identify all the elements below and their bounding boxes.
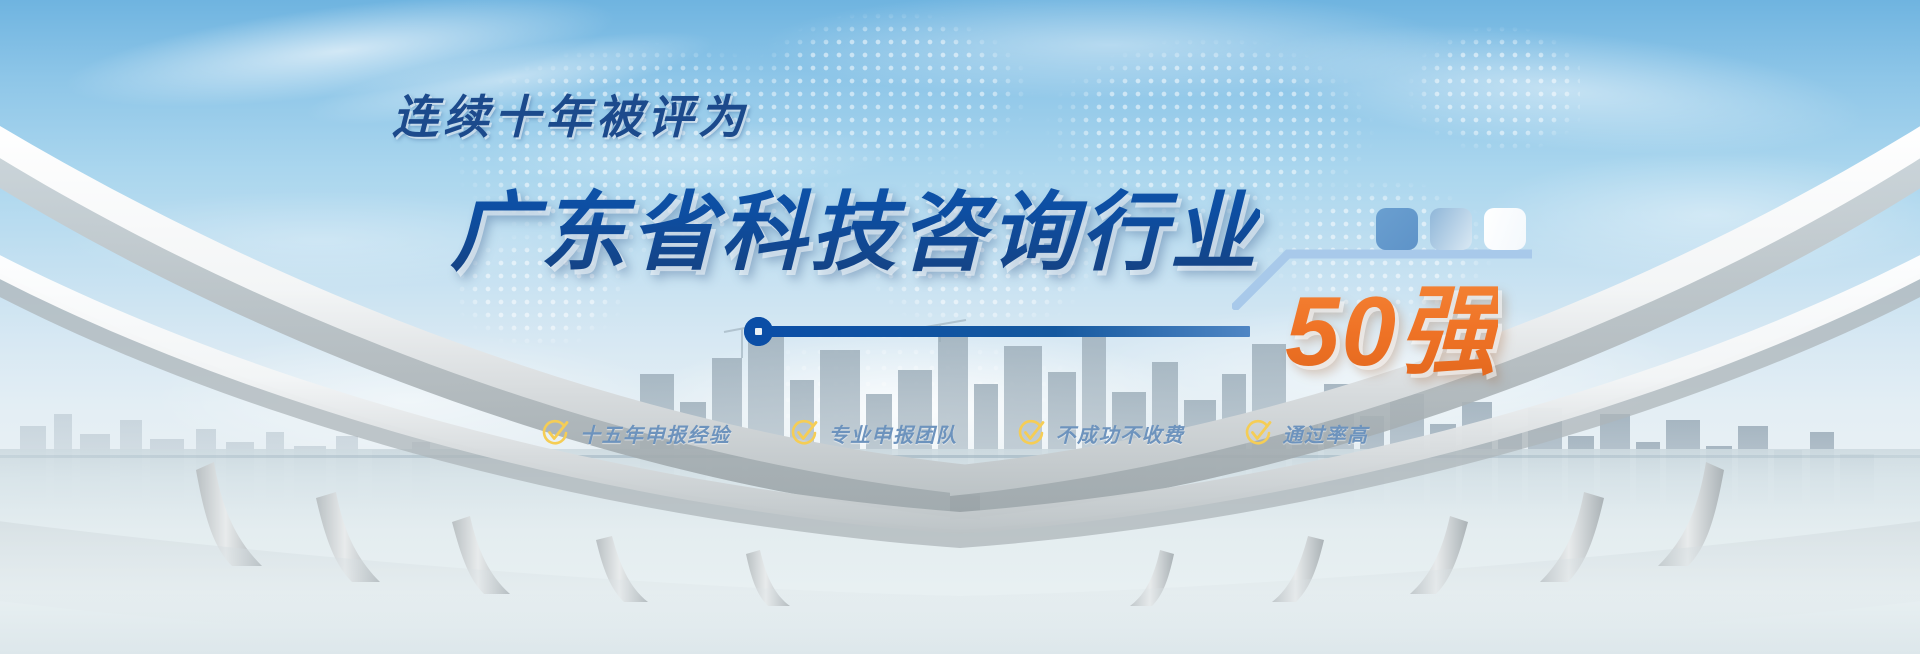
- decor-square-1: [1376, 208, 1418, 250]
- feature-label: 不成功不收费: [1056, 419, 1185, 448]
- feature-label: 通过率高: [1283, 419, 1369, 448]
- decor-square-row: [1376, 208, 1526, 250]
- rank-badge: 50强: [1285, 252, 1498, 394]
- check-circle-icon: [1016, 418, 1046, 448]
- check-circle-icon: [1243, 418, 1273, 448]
- decor-square-3: [1484, 208, 1526, 250]
- banner-copy-layer: 连续十年被评为 广东省科技咨询行业 50强 十五年申报经验: [0, 0, 1920, 654]
- feature-item: 十五年申报经验: [540, 418, 731, 448]
- feature-item: 通过率高: [1243, 418, 1369, 448]
- feature-item: 不成功不收费: [1016, 418, 1185, 448]
- feature-list: 十五年申报经验 专业申报团队 不成功不收费: [540, 418, 1369, 448]
- check-circle-icon: [540, 418, 570, 448]
- feature-label: 十五年申报经验: [580, 419, 731, 448]
- eyebrow-text: 连续十年被评为: [392, 81, 749, 147]
- feature-label: 专业申报团队: [829, 419, 958, 448]
- feature-item: 专业申报团队: [789, 418, 958, 448]
- accent-underline: [762, 326, 1250, 337]
- promo-banner: 连续十年被评为 广东省科技咨询行业 50强 十五年申报经验: [0, 0, 1920, 654]
- check-circle-icon: [789, 418, 819, 448]
- decor-square-2: [1430, 208, 1472, 250]
- page-title: 广东省科技咨询行业: [450, 162, 1260, 287]
